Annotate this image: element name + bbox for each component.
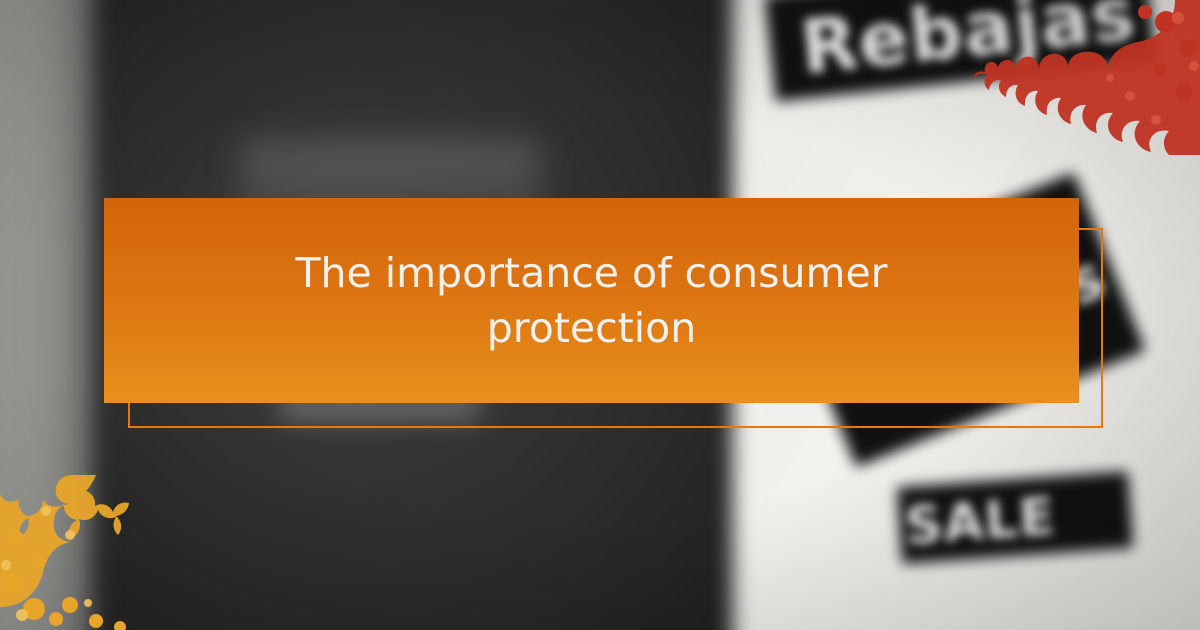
poster-canvas: Rebajas Rebajas SALE — [0, 0, 1200, 630]
floral-corner-red-icon — [970, 0, 1200, 155]
banner-title: The importance of consumer protection — [242, 246, 942, 355]
banner: The importance of consumer protection — [104, 198, 1079, 403]
floral-corner-gold-icon — [0, 475, 230, 630]
